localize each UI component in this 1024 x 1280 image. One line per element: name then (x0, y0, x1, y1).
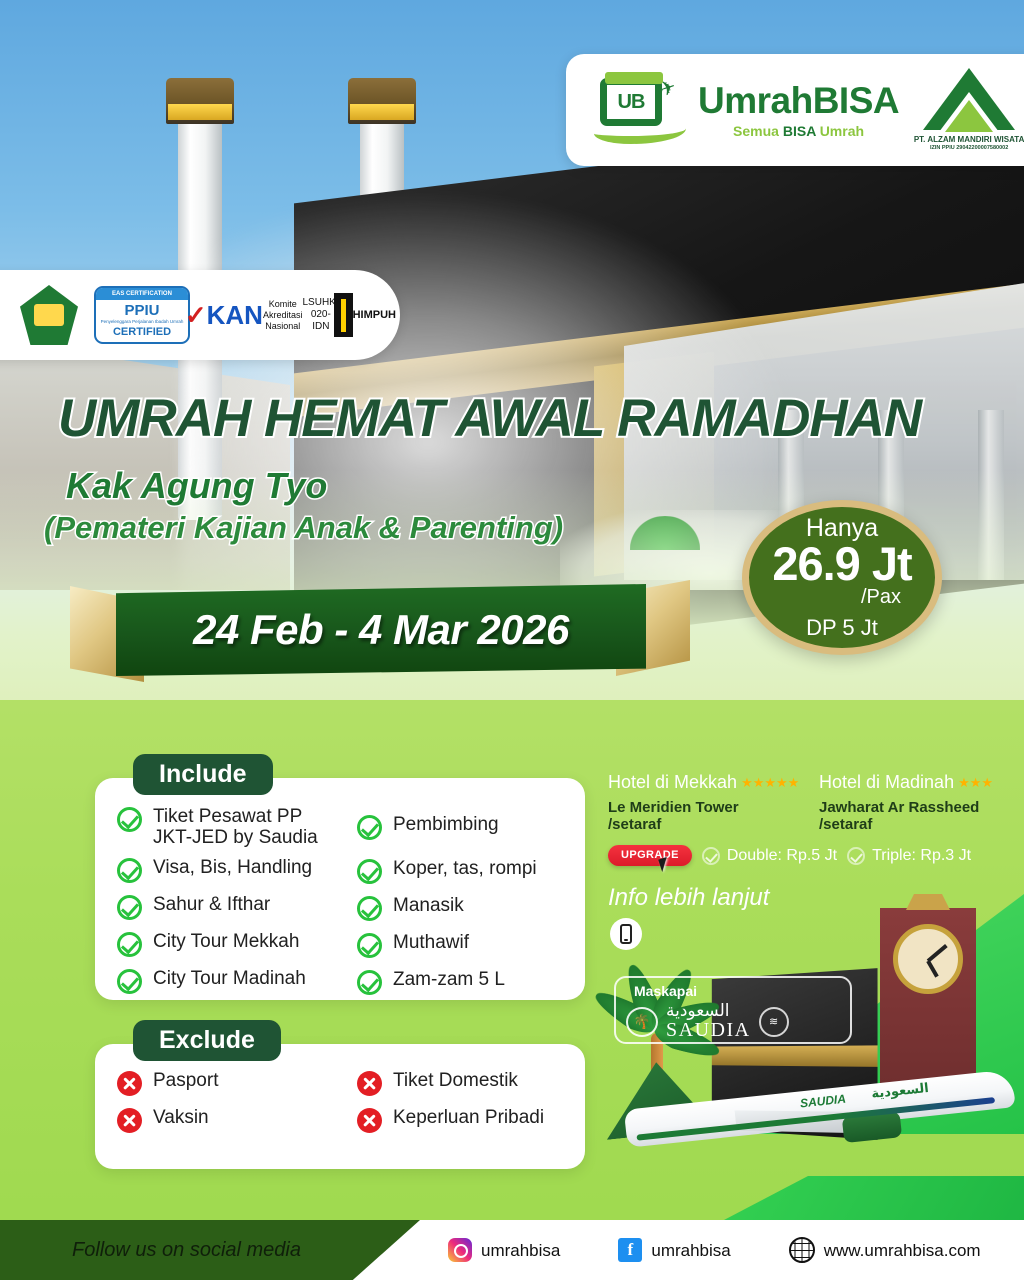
speaker-name: Kak Agung Tyo (66, 468, 327, 504)
list-item: Pembimbing (347, 814, 573, 840)
exclude-item-label: Vaksin (153, 1107, 209, 1128)
star-rating-icon: ★★★★★ (741, 775, 799, 791)
check-icon (117, 932, 142, 957)
star-rating-icon: ★★★ (958, 775, 993, 791)
include-item-label: Visa, Bis, Handling (153, 857, 312, 878)
list-item: Pasport (117, 1070, 343, 1096)
ppiu-certified-icon: EAS CERTIFICATION PPIU Penyelenggara Per… (94, 286, 190, 344)
footer-bar: Follow us on social media umrahbisa f um… (0, 1220, 1024, 1280)
instagram-link[interactable]: umrahbisa (448, 1238, 560, 1262)
mobile-phone-icon[interactable] (610, 918, 642, 950)
ribbon-body: 24 Feb - 4 Mar 2026 (116, 584, 646, 676)
airline-name-arabic: السعودية (666, 1003, 751, 1020)
tower-spire (906, 894, 950, 910)
include-column-right: Pembimbing Koper, tas, rompi Manasik Mut… (347, 806, 573, 1006)
exclude-item-label: Pasport (153, 1070, 218, 1091)
include-title: Include (133, 754, 273, 795)
himpuh-icon: HIMPUH (334, 293, 396, 337)
ppiu-label: PPIU (96, 300, 188, 318)
option-double[interactable]: Double: Rp.5 Jt (702, 847, 837, 865)
list-item: City Tour Madinah (117, 968, 343, 994)
instagram-handle: umrahbisa (481, 1242, 560, 1259)
exclude-card: Exclude Pasport Vaksin Tiket Domestik (95, 1044, 585, 1169)
website-link[interactable]: www.umrahbisa.com (789, 1237, 981, 1263)
include-item-label: Zam-zam 5 L (393, 969, 505, 990)
hotel-mekkah-name: Le Meridien Tower /setaraf (608, 799, 807, 834)
ppiu-desc: Penyelenggara Perjalanan Ibadah Umrah (96, 318, 188, 325)
include-item-label: Pembimbing (393, 814, 499, 835)
hotel-mekkah-heading: Hotel di Mekkah (608, 772, 737, 794)
kan-icon: ✓KAN Komite Akreditasi Nasional LSUHK-02… (206, 297, 318, 333)
hotel-madinah-heading: Hotel di Madinah (819, 772, 954, 794)
website-url: www.umrahbisa.com (824, 1242, 981, 1259)
check-icon (357, 859, 382, 884)
airline-label: Maskapai (634, 984, 840, 998)
list-item: Vaksin (117, 1107, 343, 1133)
company-license: IZIN PPIU 29042200007580002 (909, 145, 1024, 152)
check-circle-icon (702, 847, 720, 865)
price-amount: 26.9 Jt (772, 539, 911, 588)
brand-tagline: Semua BISA Umrah (698, 124, 899, 138)
price-per-unit: /Pax (861, 587, 901, 607)
alzam-company-logo: PT. ALZAM MANDIRI WISATA IZIN PPIU 29042… (909, 68, 1024, 152)
include-item-label: Muthawif (393, 932, 469, 953)
kan-line-1: Komite Akreditasi Nasional (263, 299, 303, 332)
list-item: Sahur & Ifthar (117, 894, 343, 920)
include-item-label: Sahur & Ifthar (153, 894, 270, 915)
certification-bar: EAS CERTIFICATION PPIU Penyelenggara Per… (0, 270, 400, 360)
hotel-madinah-name: Jawharat Ar Rassheed /setaraf (819, 799, 1018, 834)
airline-card: Maskapai 🌴 السعودية SAUDIA ≋ (614, 976, 852, 1044)
hotel-madinah: Hotel di Madinah ★★★ Jawharat Ar Rasshee… (819, 772, 1018, 833)
brand-name: UmrahBISA (698, 82, 899, 119)
price-badge: Hanya 26.9 Jt /Pax DP 5 Jt (742, 500, 942, 655)
check-icon (357, 896, 382, 921)
include-item-label: Koper, tas, rompi (393, 858, 537, 879)
check-icon (117, 807, 142, 832)
cross-icon (117, 1071, 142, 1096)
exclude-title: Exclude (133, 1020, 281, 1061)
umrahbisa-logo-icon: UB ✈ (592, 74, 688, 146)
facebook-icon: f (618, 1238, 642, 1262)
include-item-label: City Tour Madinah (153, 968, 306, 989)
hotel-info-section: Hotel di Mekkah ★★★★★ Le Meridien Tower … (608, 772, 1018, 866)
saudia-emblem-icon: 🌴 (626, 1007, 658, 1037)
ppiu-top-label: EAS CERTIFICATION (96, 288, 188, 300)
exclude-column-left: Pasport Vaksin (117, 1070, 343, 1144)
himpuh-label: HIMPUH (353, 309, 396, 322)
include-item-label: Manasik (393, 895, 464, 916)
airline-name: SAUDIA (666, 1020, 751, 1040)
speaker-role: (Pemateri Kajian Anak & Parenting) (44, 512, 563, 543)
list-item: City Tour Mekkah (117, 931, 343, 957)
cross-icon (357, 1071, 382, 1096)
facebook-link[interactable]: f umrahbisa (618, 1238, 730, 1262)
instagram-icon (448, 1238, 472, 1262)
kemenag-icon (20, 285, 78, 345)
check-icon (357, 933, 382, 958)
follow-us-banner: Follow us on social media (0, 1220, 420, 1280)
facebook-handle: umrahbisa (651, 1242, 730, 1259)
list-item: Zam-zam 5 L (347, 969, 573, 995)
more-info-label: Info lebih lanjut (608, 886, 769, 910)
social-links: umrahbisa f umrahbisa www.umrahbisa.com (448, 1220, 981, 1280)
include-item-label: Tiket Pesawat PP JKT-JED by Saudia (153, 806, 318, 849)
upgrade-button[interactable]: UPGRADE (608, 845, 692, 866)
check-icon (357, 815, 382, 840)
ppiu-certified-label: CERTIFIED (96, 325, 188, 339)
option-triple-label: Triple: Rp.3 Jt (872, 848, 971, 864)
exclude-item-label: Keperluan Pribadi (393, 1107, 544, 1128)
price-downpayment: DP 5 Jt (806, 617, 878, 639)
umrah-promo-poster: UB ✈ UmrahBISA Semua BISA Umrah PT. ALZA… (0, 0, 1024, 1280)
include-item-label: City Tour Mekkah (153, 931, 299, 952)
check-icon (117, 895, 142, 920)
option-triple[interactable]: Triple: Rp.3 Jt (847, 847, 971, 865)
option-double-label: Double: Rp.5 Jt (727, 848, 837, 864)
travel-dates: 24 Feb - 4 Mar 2026 (193, 609, 569, 651)
list-item: Muthawif (347, 932, 573, 958)
swoosh-shape (594, 118, 686, 144)
exclude-column-right: Tiket Domestik Keperluan Pribadi (347, 1070, 573, 1144)
tagline-part-2: BISA (783, 123, 816, 139)
exclude-item-label: Tiket Domestik (393, 1070, 518, 1091)
check-circle-icon (847, 847, 865, 865)
brand-logo-card: UB ✈ UmrahBISA Semua BISA Umrah PT. ALZA… (566, 54, 1024, 166)
globe-icon (789, 1237, 815, 1263)
check-icon (117, 858, 142, 883)
cross-icon (357, 1108, 382, 1133)
brand-text-block: UmrahBISA Semua BISA Umrah (698, 82, 899, 138)
alzam-chevron-icon (923, 68, 1015, 132)
check-icon (357, 970, 382, 995)
list-item: Keperluan Pribadi (347, 1107, 573, 1133)
kan-label: KAN (207, 300, 263, 330)
company-name: PT. ALZAM MANDIRI WISATA (909, 135, 1024, 145)
skyteam-icon: ≋ (759, 1007, 789, 1037)
cross-icon (117, 1108, 142, 1133)
include-column-left: Tiket Pesawat PP JKT-JED by Saudia Visa,… (117, 806, 343, 1006)
list-item: Visa, Bis, Handling (117, 857, 343, 883)
hotel-mekkah: Hotel di Mekkah ★★★★★ Le Meridien Tower … (608, 772, 807, 833)
list-item: Tiket Domestik (347, 1070, 573, 1096)
tagline-part-3: Umrah (820, 123, 864, 139)
list-item: Koper, tas, rompi (347, 858, 573, 884)
list-item: Manasik (347, 895, 573, 921)
kan-check-icon: ✓ (185, 300, 207, 330)
date-ribbon: 24 Feb - 4 Mar 2026 (70, 580, 690, 685)
clock-face (893, 924, 963, 994)
page-title: UMRAH HEMAT AWAL RAMADHAN (58, 392, 1018, 445)
tagline-part-1: Semua (733, 123, 779, 139)
check-icon (117, 969, 142, 994)
include-card: Include Tiket Pesawat PP JKT-JED by Saud… (95, 778, 585, 1000)
list-item: Tiket Pesawat PP JKT-JED by Saudia (117, 806, 343, 849)
follow-us-text: Follow us on social media (72, 1240, 301, 1260)
